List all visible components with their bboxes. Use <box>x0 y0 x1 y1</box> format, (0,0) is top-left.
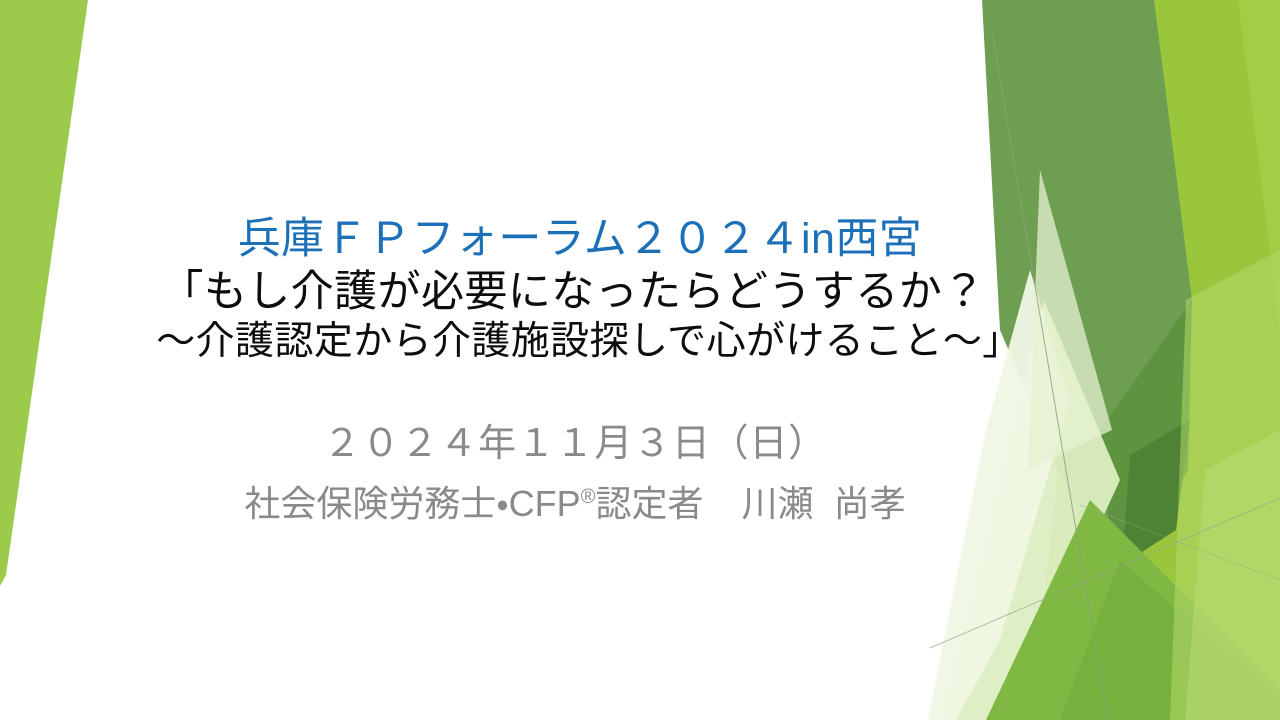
slide-content: 兵庫ＦＰフォーラム２０２４in西宮 「もし介護が必要になったらどうするか？ 〜介… <box>0 0 1280 720</box>
presentation-date: ２０２４年１１月３日（日） <box>0 420 1150 469</box>
title-line-main: 「もし介護が必要になったらどうするか？ <box>0 267 1150 318</box>
title-placeholder: 兵庫ＦＰフォーラム２０２４in西宮 「もし介護が必要になったらどうするか？ 〜介… <box>0 214 1150 365</box>
registered-trademark-icon: ® <box>581 486 596 508</box>
presenter-qualification-suffix: 認定者 <box>596 483 704 524</box>
presentation-slide: 兵庫ＦＰフォーラム２０２４in西宮 「もし介護が必要になったらどうするか？ 〜介… <box>0 0 1280 720</box>
title-line-event: 兵庫ＦＰフォーラム２０２４in西宮 <box>10 214 1150 265</box>
subtitle-placeholder: ２０２４年１１月３日（日） 社会保険労務士・CFP®認定者川瀬尚孝 <box>0 420 1150 528</box>
presenter-given-name: 尚孝 <box>834 483 906 524</box>
presenter-qualification-prefix: 社会保険労務士・CFP <box>244 483 580 524</box>
presenter-family-name: 川瀬 <box>742 483 814 524</box>
presenter-credit: 社会保険労務士・CFP®認定者川瀬尚孝 <box>0 481 1150 528</box>
title-line-sub: 〜介護認定から介護施設探しで心がけること〜」 <box>28 319 1150 365</box>
